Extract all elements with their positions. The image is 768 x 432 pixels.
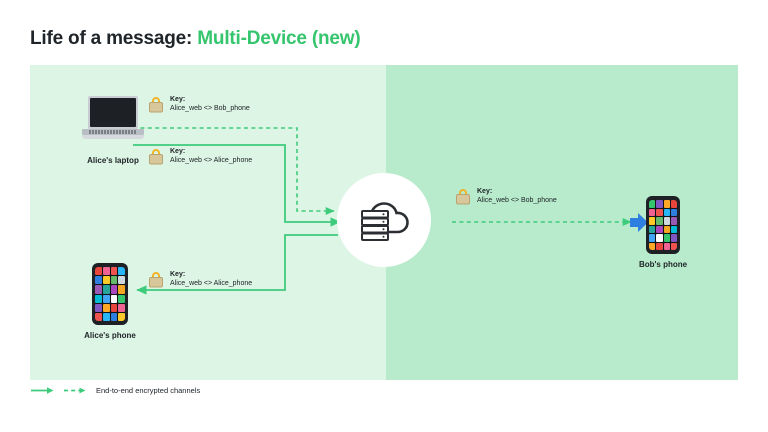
key-badge-web-bob-left: Key: Alice_web <> Bob_phone: [148, 96, 250, 114]
key-title: Key:: [170, 271, 252, 280]
app-tile: [671, 217, 677, 225]
app-tile: [664, 209, 670, 217]
legend: End-to-end encrypted channels: [30, 386, 200, 395]
app-tile: [671, 234, 677, 242]
lock-icon: [148, 96, 164, 113]
app-tile: [656, 209, 662, 217]
app-tile: [671, 209, 677, 217]
cloud-server-glyph: [359, 200, 413, 242]
lock-icon: [148, 148, 164, 165]
cloud-server-icon: [337, 173, 431, 267]
key-text: Key: Alice_web <> Bob_phone: [170, 96, 250, 114]
app-tile: [671, 243, 677, 251]
app-tile: [664, 200, 670, 208]
app-tile: [111, 285, 118, 293]
device-label-alice-phone: Alice's phone: [50, 331, 170, 340]
app-tile: [95, 267, 102, 275]
phone-app-grid-alice: [95, 267, 125, 321]
app-tile: [649, 226, 655, 234]
app-tile: [664, 243, 670, 251]
app-tile: [111, 267, 118, 275]
key-badge-web-alicephone-lower: Key: Alice_web <> Alice_phone: [148, 271, 252, 289]
page-title: Life of a message: Multi-Device (new): [30, 28, 360, 50]
app-tile: [656, 234, 662, 242]
app-tile: [118, 313, 125, 321]
key-badge-web-bob-right: Key: Alice_web <> Bob_phone: [455, 188, 557, 206]
app-tile: [649, 200, 655, 208]
key-value: Alice_web <> Bob_phone: [477, 197, 557, 206]
device-label-bob-phone: Bob's phone: [603, 260, 723, 269]
key-text: Key: Alice_web <> Bob_phone: [477, 188, 557, 206]
key-title: Key:: [170, 96, 250, 105]
app-tile: [103, 313, 110, 321]
app-tile: [111, 313, 118, 321]
app-tile: [118, 276, 125, 284]
laptop-lid: [88, 96, 138, 129]
page-title-accent: Multi-Device (new): [197, 28, 360, 49]
slide-root: Life of a message: Multi-Device (new): [0, 0, 768, 432]
app-tile: [656, 217, 662, 225]
panel-bob-side: [386, 65, 738, 380]
app-tile: [649, 209, 655, 217]
phone-icon-bob: [646, 196, 680, 254]
page-title-main: Life of a message:: [30, 28, 192, 49]
app-tile: [95, 276, 102, 284]
key-text: Key: Alice_web <> Alice_phone: [170, 148, 252, 166]
app-tile: [671, 226, 677, 234]
app-tile: [664, 226, 670, 234]
laptop-screen: [90, 98, 136, 127]
phone-icon-alice: [92, 263, 128, 325]
key-title: Key:: [170, 148, 252, 157]
app-tile: [649, 217, 655, 225]
app-tile: [664, 234, 670, 242]
key-title: Key:: [477, 188, 557, 197]
key-badge-web-alicephone-upper: Key: Alice_web <> Alice_phone: [148, 148, 252, 166]
app-tile: [95, 295, 102, 303]
app-tile: [111, 295, 118, 303]
laptop-keys: [89, 130, 137, 134]
phone-app-grid-bob: [649, 200, 677, 250]
app-tile: [118, 304, 125, 312]
key-text: Key: Alice_web <> Alice_phone: [170, 271, 252, 289]
key-value: Alice_web <> Alice_phone: [170, 280, 252, 289]
app-tile: [95, 313, 102, 321]
app-tile: [103, 304, 110, 312]
key-value: Alice_web <> Bob_phone: [170, 105, 250, 114]
app-tile: [103, 276, 110, 284]
app-tile: [103, 285, 110, 293]
lock-icon: [455, 188, 471, 205]
app-tile: [656, 243, 662, 251]
app-tile: [103, 267, 110, 275]
laptop-base: [82, 135, 144, 139]
legend-label: End-to-end encrypted channels: [96, 386, 200, 395]
app-tile: [118, 285, 125, 293]
key-value: Alice_web <> Alice_phone: [170, 157, 252, 166]
app-tile: [664, 217, 670, 225]
app-tile: [649, 234, 655, 242]
app-tile: [656, 226, 662, 234]
laptop-icon: [82, 96, 144, 140]
app-tile: [118, 295, 125, 303]
app-tile: [656, 200, 662, 208]
app-tile: [118, 267, 125, 275]
app-tile: [111, 304, 118, 312]
app-tile: [671, 200, 677, 208]
app-tile: [95, 285, 102, 293]
app-tile: [649, 243, 655, 251]
app-tile: [111, 276, 118, 284]
lock-icon: [148, 271, 164, 288]
app-tile: [103, 295, 110, 303]
dashed-arrow-icon: [63, 386, 89, 395]
app-tile: [95, 304, 102, 312]
solid-arrow-icon: [30, 386, 56, 395]
